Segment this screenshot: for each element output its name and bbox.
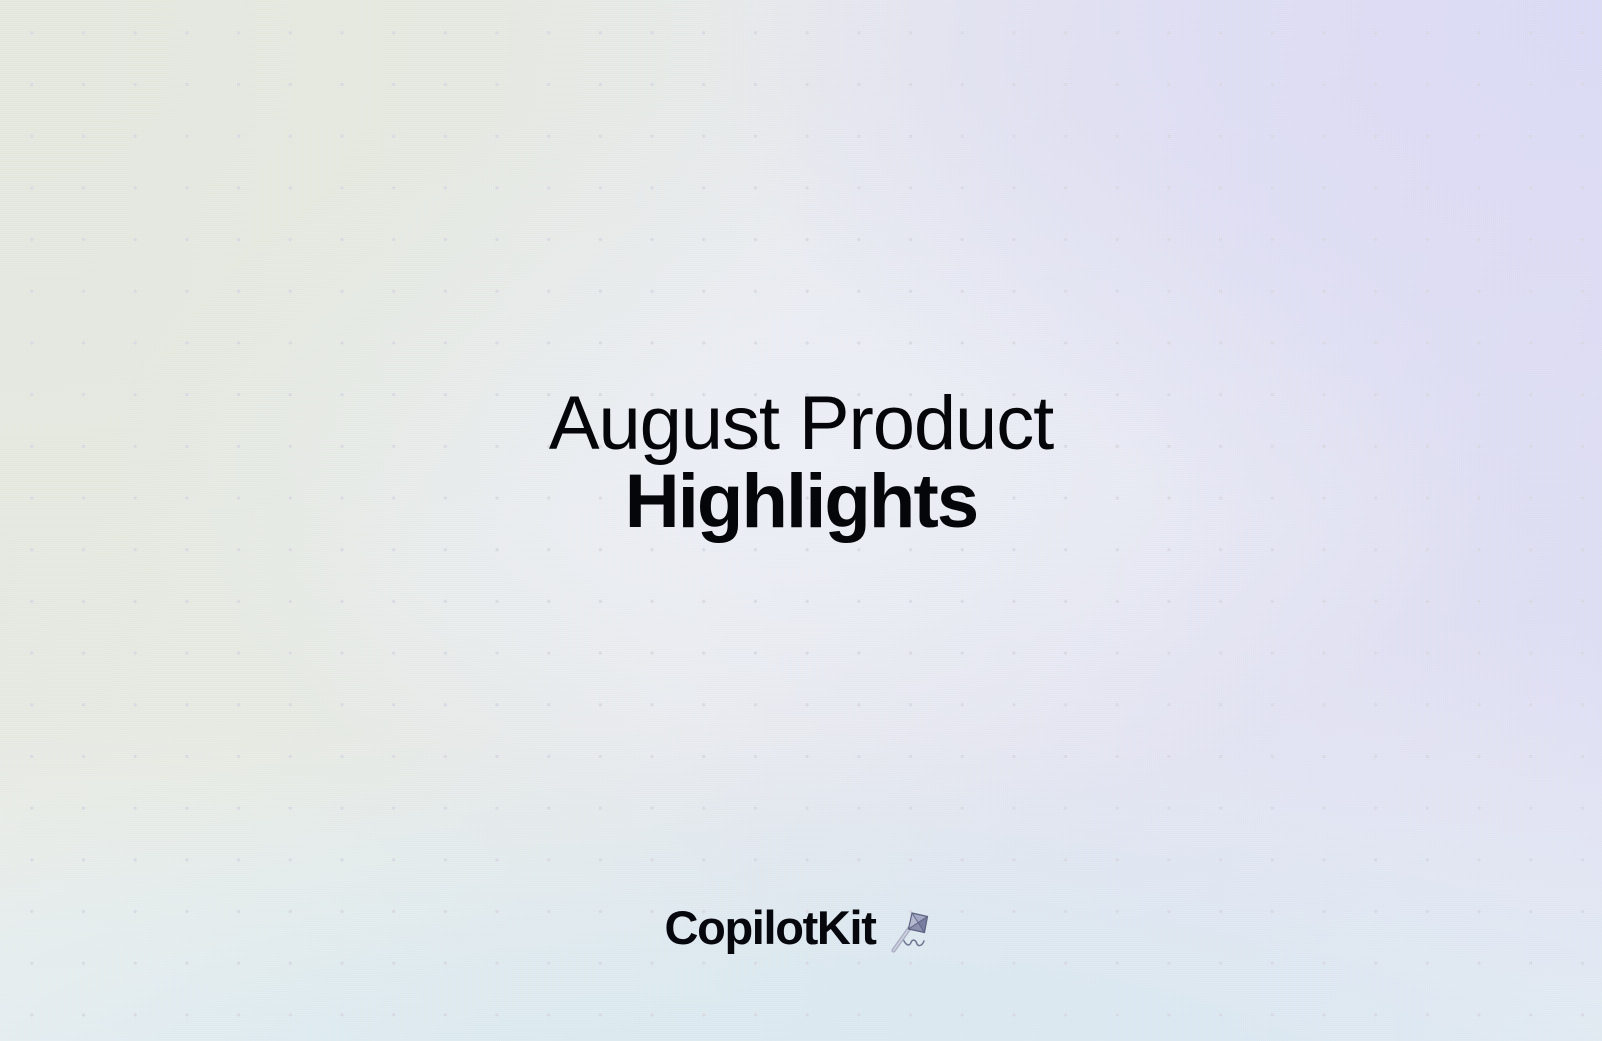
title-slide: August Product Highlights CopilotKit xyxy=(0,0,1602,1041)
kite-icon xyxy=(882,902,938,958)
brand-wordmark: CopilotKit xyxy=(665,904,876,951)
page-title-line-1: August Product xyxy=(0,385,1602,463)
page-title-line-2: Highlights xyxy=(0,463,1602,541)
page-title: August Product Highlights xyxy=(0,385,1602,541)
brand-logo-lockup: CopilotKit xyxy=(0,899,1602,955)
